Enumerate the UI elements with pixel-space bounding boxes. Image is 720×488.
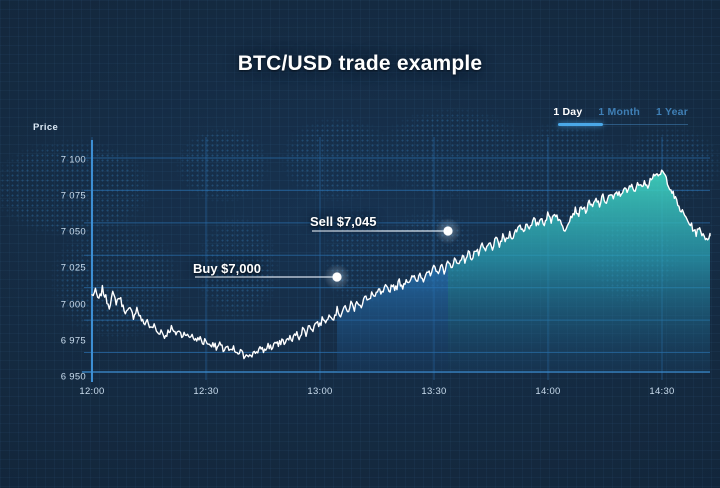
- area-fills: [92, 170, 710, 372]
- chart-screenshot: BTC/USD trade example 1 Day 1 Month 1 Ye…: [0, 0, 720, 488]
- sell-annotation-label: Sell $7,045: [310, 214, 377, 229]
- buy-annotation-label: Buy $7,000: [193, 261, 261, 276]
- price-chart-plot: [0, 0, 720, 488]
